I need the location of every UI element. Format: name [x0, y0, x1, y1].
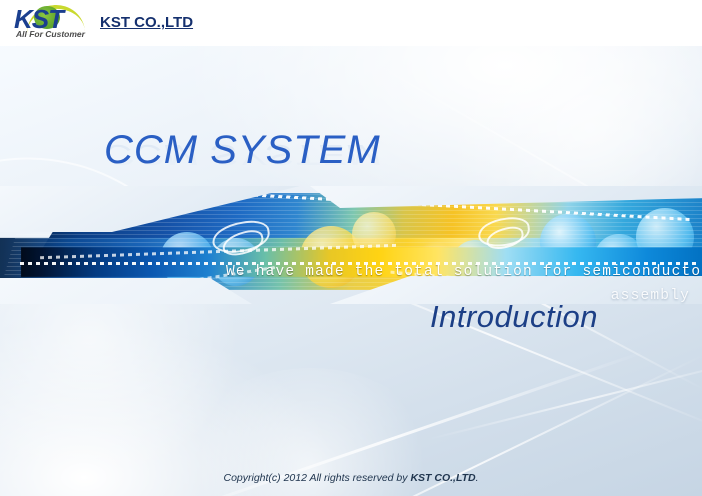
slide-header: KST All For Customer KST CO.,LTD — [0, 0, 702, 46]
logo-mark-text: KST — [14, 4, 63, 35]
kst-logo-icon[interactable]: KST All For Customer — [14, 3, 92, 41]
banner-tagline-line-2: assembly — [0, 288, 690, 304]
banner-graphic — [0, 186, 702, 304]
company-name-link[interactable]: KST CO.,LTD — [100, 14, 193, 31]
page-title: CCM SYSTEM — [104, 128, 381, 173]
background-streak — [425, 357, 702, 441]
copyright-company: KST CO.,LTD — [410, 472, 475, 484]
banner-tagline-line-1: We have made the total solution for semi… — [226, 264, 702, 280]
copyright-text: Copyright(c) 2012 All rights reserved by… — [223, 472, 478, 484]
slide-footer: Copyright(c) 2012 All rights reserved by… — [0, 468, 702, 486]
background-arc — [0, 124, 246, 496]
copyright-prefix: Copyright(c) 2012 All rights reserved by — [223, 472, 410, 484]
copyright-suffix: . — [476, 472, 479, 484]
slide-subtitle: Introduction — [430, 299, 598, 335]
presentation-slide: CCM SYSTEM CCM SYSTEM We ha — [0, 0, 702, 496]
